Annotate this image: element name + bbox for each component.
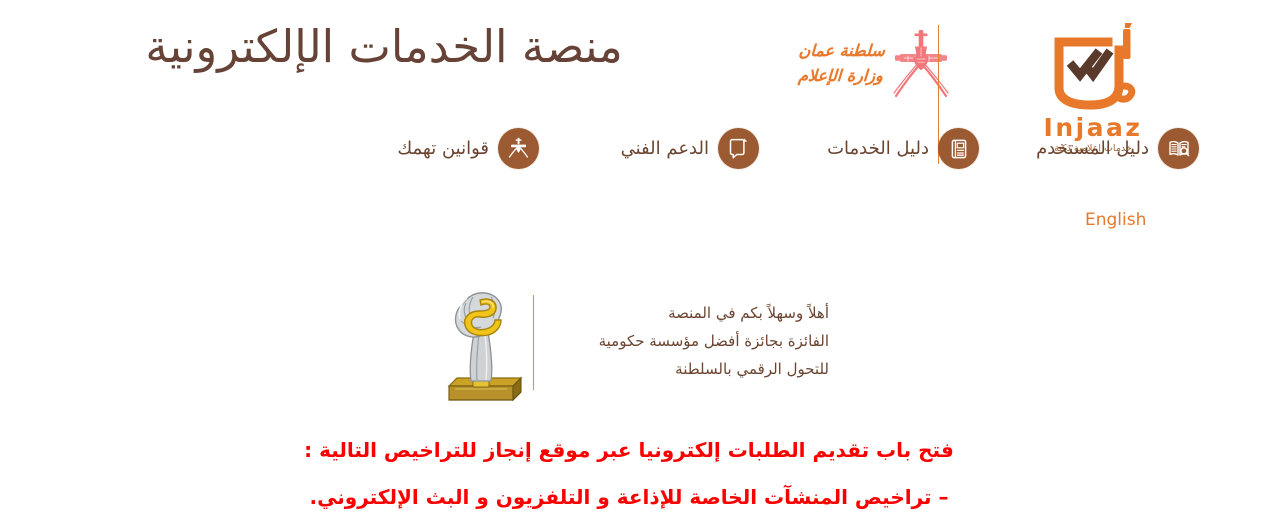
nav-label: دليل الخدمات (827, 138, 929, 159)
trophy-icon (433, 276, 529, 408)
primary-nav: دليل المستخدم دليل الخدمات الدعم الفني (319, 128, 1199, 169)
nav-icon-badge (718, 128, 759, 169)
nav-label: قوانين تهمك (397, 138, 489, 159)
welcome-line-3: للتحول الرقمي بالسلطنة (554, 356, 829, 384)
welcome-line-2: الفائزة بجائزة أفضل مؤسسة حكومية (554, 328, 829, 356)
announcement-line-1: فتح باب تقديم الطلبات إلكترونيا عبر موقع… (279, 440, 979, 460)
injaaz-mark-icon (1046, 20, 1140, 114)
nav-icon-badge (1158, 128, 1199, 169)
document-list-icon (947, 137, 971, 161)
nav-icon-badge (938, 128, 979, 169)
announcement-banner: فتح باب تقديم الطلبات إلكترونيا عبر موقع… (279, 440, 979, 507)
nav-icon-badge (498, 128, 539, 169)
welcome-message: أهلاً وسهلاً بكم في المنصة الفائزة بجائز… (554, 300, 829, 383)
nav-label: دليل المستخدم (1036, 138, 1149, 159)
khanjar-emblem-icon (506, 136, 531, 161)
award-welcome-block: أهلاً وسهلاً بكم في المنصة الفائزة بجائز… (429, 272, 829, 412)
welcome-line-1: أهلاً وسهلاً بكم في المنصة (554, 300, 829, 328)
ministry-name: سلطنة عمان وزارة الإعلام (796, 39, 885, 89)
nav-item-technical-support[interactable]: الدعم الفني (539, 128, 759, 169)
chat-device-icon (726, 136, 751, 161)
page-title: منصة الخدمات الإلكترونية (54, 14, 714, 79)
nav-item-user-guide[interactable]: دليل المستخدم (979, 128, 1199, 169)
ministry-line-2: وزارة الإعلام (797, 64, 883, 89)
khanjar-emblem-icon (888, 27, 954, 101)
nav-item-laws[interactable]: قوانين تهمك (319, 128, 539, 169)
language-switch-english[interactable]: English (1085, 210, 1146, 230)
nav-item-services-guide[interactable]: دليل الخدمات (759, 128, 979, 169)
ministry-line-1: سلطنة عمان (798, 39, 886, 64)
nav-label: الدعم الفني (621, 138, 709, 159)
announcement-line-2: – تراخيص المنشآت الخاصة للإذاعة و التلفز… (279, 487, 979, 507)
book-search-icon (1167, 137, 1191, 161)
award-divider (533, 295, 534, 390)
ministry-lockup: سلطنة عمان وزارة الإعلام (754, 18, 954, 110)
